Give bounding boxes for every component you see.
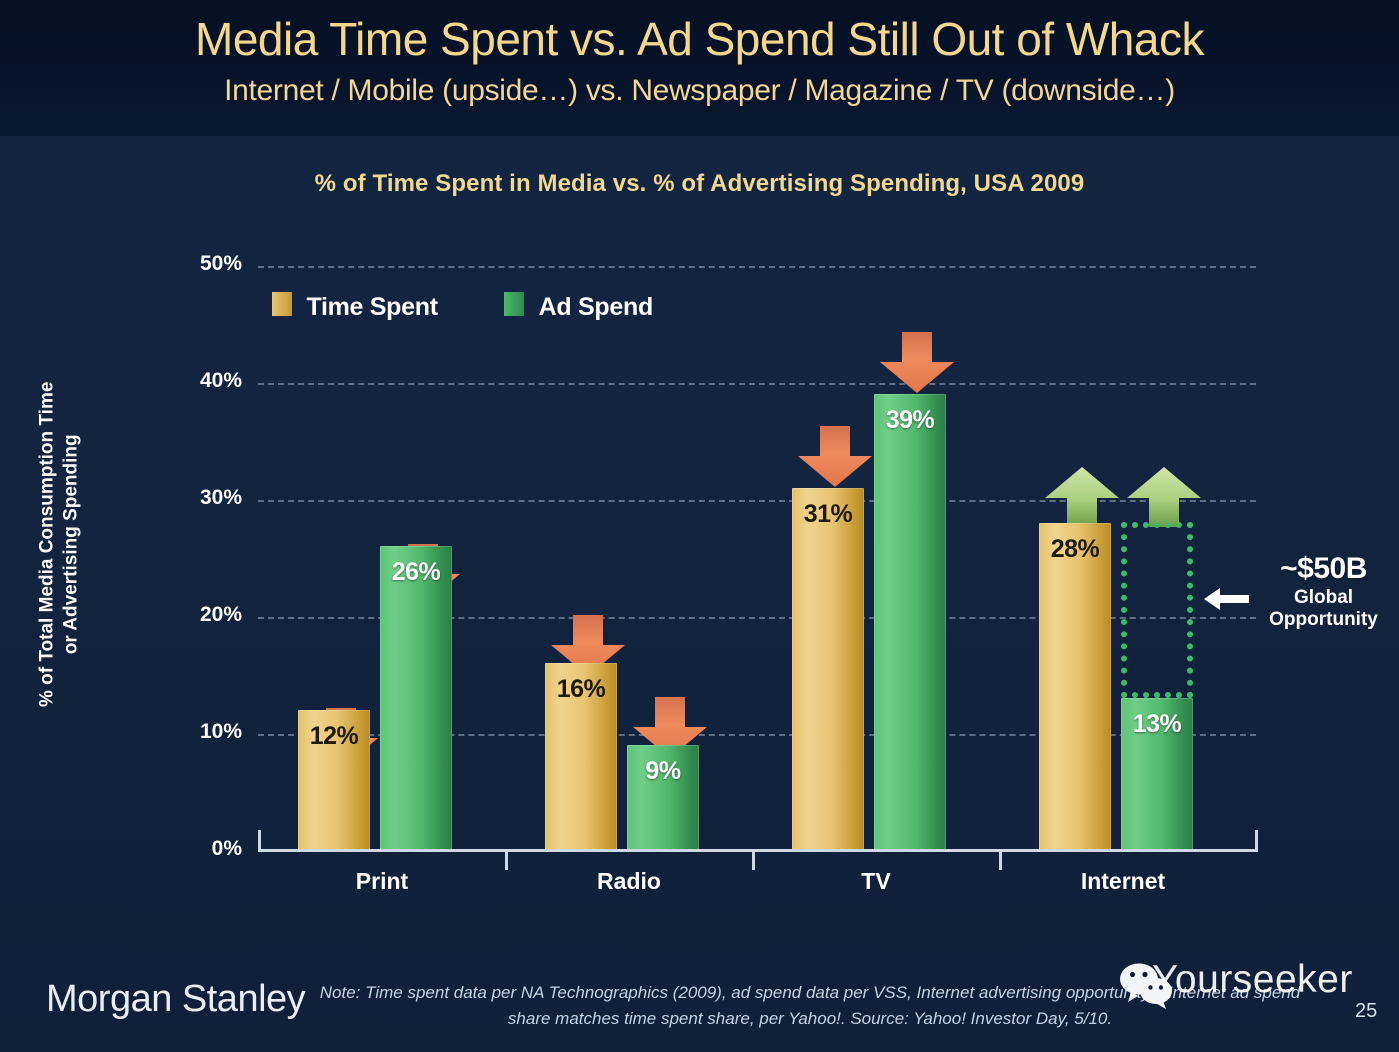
legend-label-time-spent: Time Spent — [306, 293, 437, 322]
y-tick-label-30: 30% — [132, 486, 242, 510]
slide: Media Time Spent vs. Ad Spend Still Out … — [0, 0, 1399, 1052]
opportunity-line-2: Global — [1248, 587, 1399, 609]
y-tick-label-50: 50% — [132, 252, 242, 276]
x-axis-start-tick — [258, 830, 261, 852]
opportunity-line-3: Opportunity — [1248, 609, 1399, 631]
bar-internet-ad-spend[interactable]: 13% — [1121, 698, 1193, 850]
x-category-label-print: Print — [272, 868, 492, 895]
page-number: 25 — [1355, 1000, 1377, 1023]
legend-swatch-ad-spend — [504, 292, 524, 316]
opportunity-gap-box — [1121, 522, 1193, 698]
gridline-50 — [258, 266, 1256, 268]
bar-tv-ad-spend[interactable]: 39% — [874, 394, 946, 850]
legend-item-ad-spend[interactable]: Ad Spend — [504, 292, 653, 322]
bar-tv-time-spent[interactable]: 31% — [792, 488, 864, 850]
opportunity-amount: ~$50B — [1248, 552, 1399, 587]
y-axis-title: % of Total Media Consumption Time or Adv… — [36, 329, 85, 759]
bar-label-internet-ad-spend: 13% — [1121, 710, 1193, 739]
internet-time-spent-up-arrow-icon — [1043, 466, 1121, 528]
x-category-label-tv: TV — [766, 868, 986, 895]
bar-label-print-time-spent: 12% — [298, 722, 370, 751]
bar-print-ad-spend[interactable]: 26% — [380, 546, 452, 850]
bar-label-radio-ad-spend: 9% — [627, 757, 699, 786]
bar-label-radio-time-spent: 16% — [545, 675, 617, 704]
chart-legend: Time Spent Ad Spend — [272, 292, 715, 322]
y-tick-label-0: 0% — [132, 837, 242, 861]
legend-swatch-time-spent — [272, 292, 292, 316]
y-tick-label-20: 20% — [132, 603, 242, 627]
bar-internet-time-spent[interactable]: 28% — [1039, 523, 1111, 850]
bar-print-time-spent[interactable]: 12% — [298, 710, 370, 850]
chart-title: % of Time Spent in Media vs. % of Advert… — [0, 170, 1399, 198]
morgan-stanley-logo: Morgan Stanley — [46, 978, 305, 1021]
legend-item-time-spent[interactable]: Time Spent — [272, 292, 438, 322]
x-category-label-internet: Internet — [1013, 868, 1233, 895]
tv-ad-spend-down-arrow-icon — [878, 332, 956, 394]
tv-time-spent-down-arrow-icon — [796, 426, 874, 488]
plot-area: 12% 26% 16% 9% 31% — [258, 266, 1256, 850]
x-axis-line — [258, 849, 1258, 852]
watermark: Yourseeker — [1152, 958, 1353, 1002]
x-tick-tv-internet — [999, 849, 1002, 870]
y-tick-label-40: 40% — [132, 369, 242, 393]
bar-radio-ad-spend[interactable]: 9% — [627, 745, 699, 850]
gridline-40 — [258, 383, 1256, 385]
x-category-label-radio: Radio — [519, 868, 739, 895]
bar-label-print-ad-spend: 26% — [380, 558, 452, 587]
x-tick-print-radio — [505, 849, 508, 870]
bar-label-internet-time-spent: 28% — [1039, 535, 1111, 564]
opportunity-callout-arrow-icon — [1204, 586, 1250, 612]
bar-label-tv-ad-spend: 39% — [874, 406, 946, 435]
y-axis-title-line1: % of Total Media Consumption Time — [37, 382, 58, 707]
legend-label-ad-spend: Ad Spend — [539, 293, 653, 322]
slide-title: Media Time Spent vs. Ad Spend Still Out … — [0, 0, 1399, 62]
bar-label-tv-time-spent: 31% — [792, 500, 864, 529]
source-footnote-line1: Note: Time spent data per NA Technograph… — [320, 983, 1249, 1002]
opportunity-callout: ~$50B Global Opportunity — [1248, 552, 1399, 631]
y-tick-label-10: 10% — [132, 720, 242, 744]
slide-subtitle: Internet / Mobile (upside…) vs. Newspape… — [0, 62, 1399, 106]
x-tick-radio-tv — [752, 849, 755, 870]
slide-header-band: Media Time Spent vs. Ad Spend Still Out … — [0, 0, 1399, 136]
bar-radio-time-spent[interactable]: 16% — [545, 663, 617, 850]
x-axis-end-tick — [1255, 830, 1258, 852]
internet-ad-spend-up-arrow-icon — [1125, 466, 1203, 528]
y-axis-title-line2: or Advertising Spending — [61, 434, 82, 654]
